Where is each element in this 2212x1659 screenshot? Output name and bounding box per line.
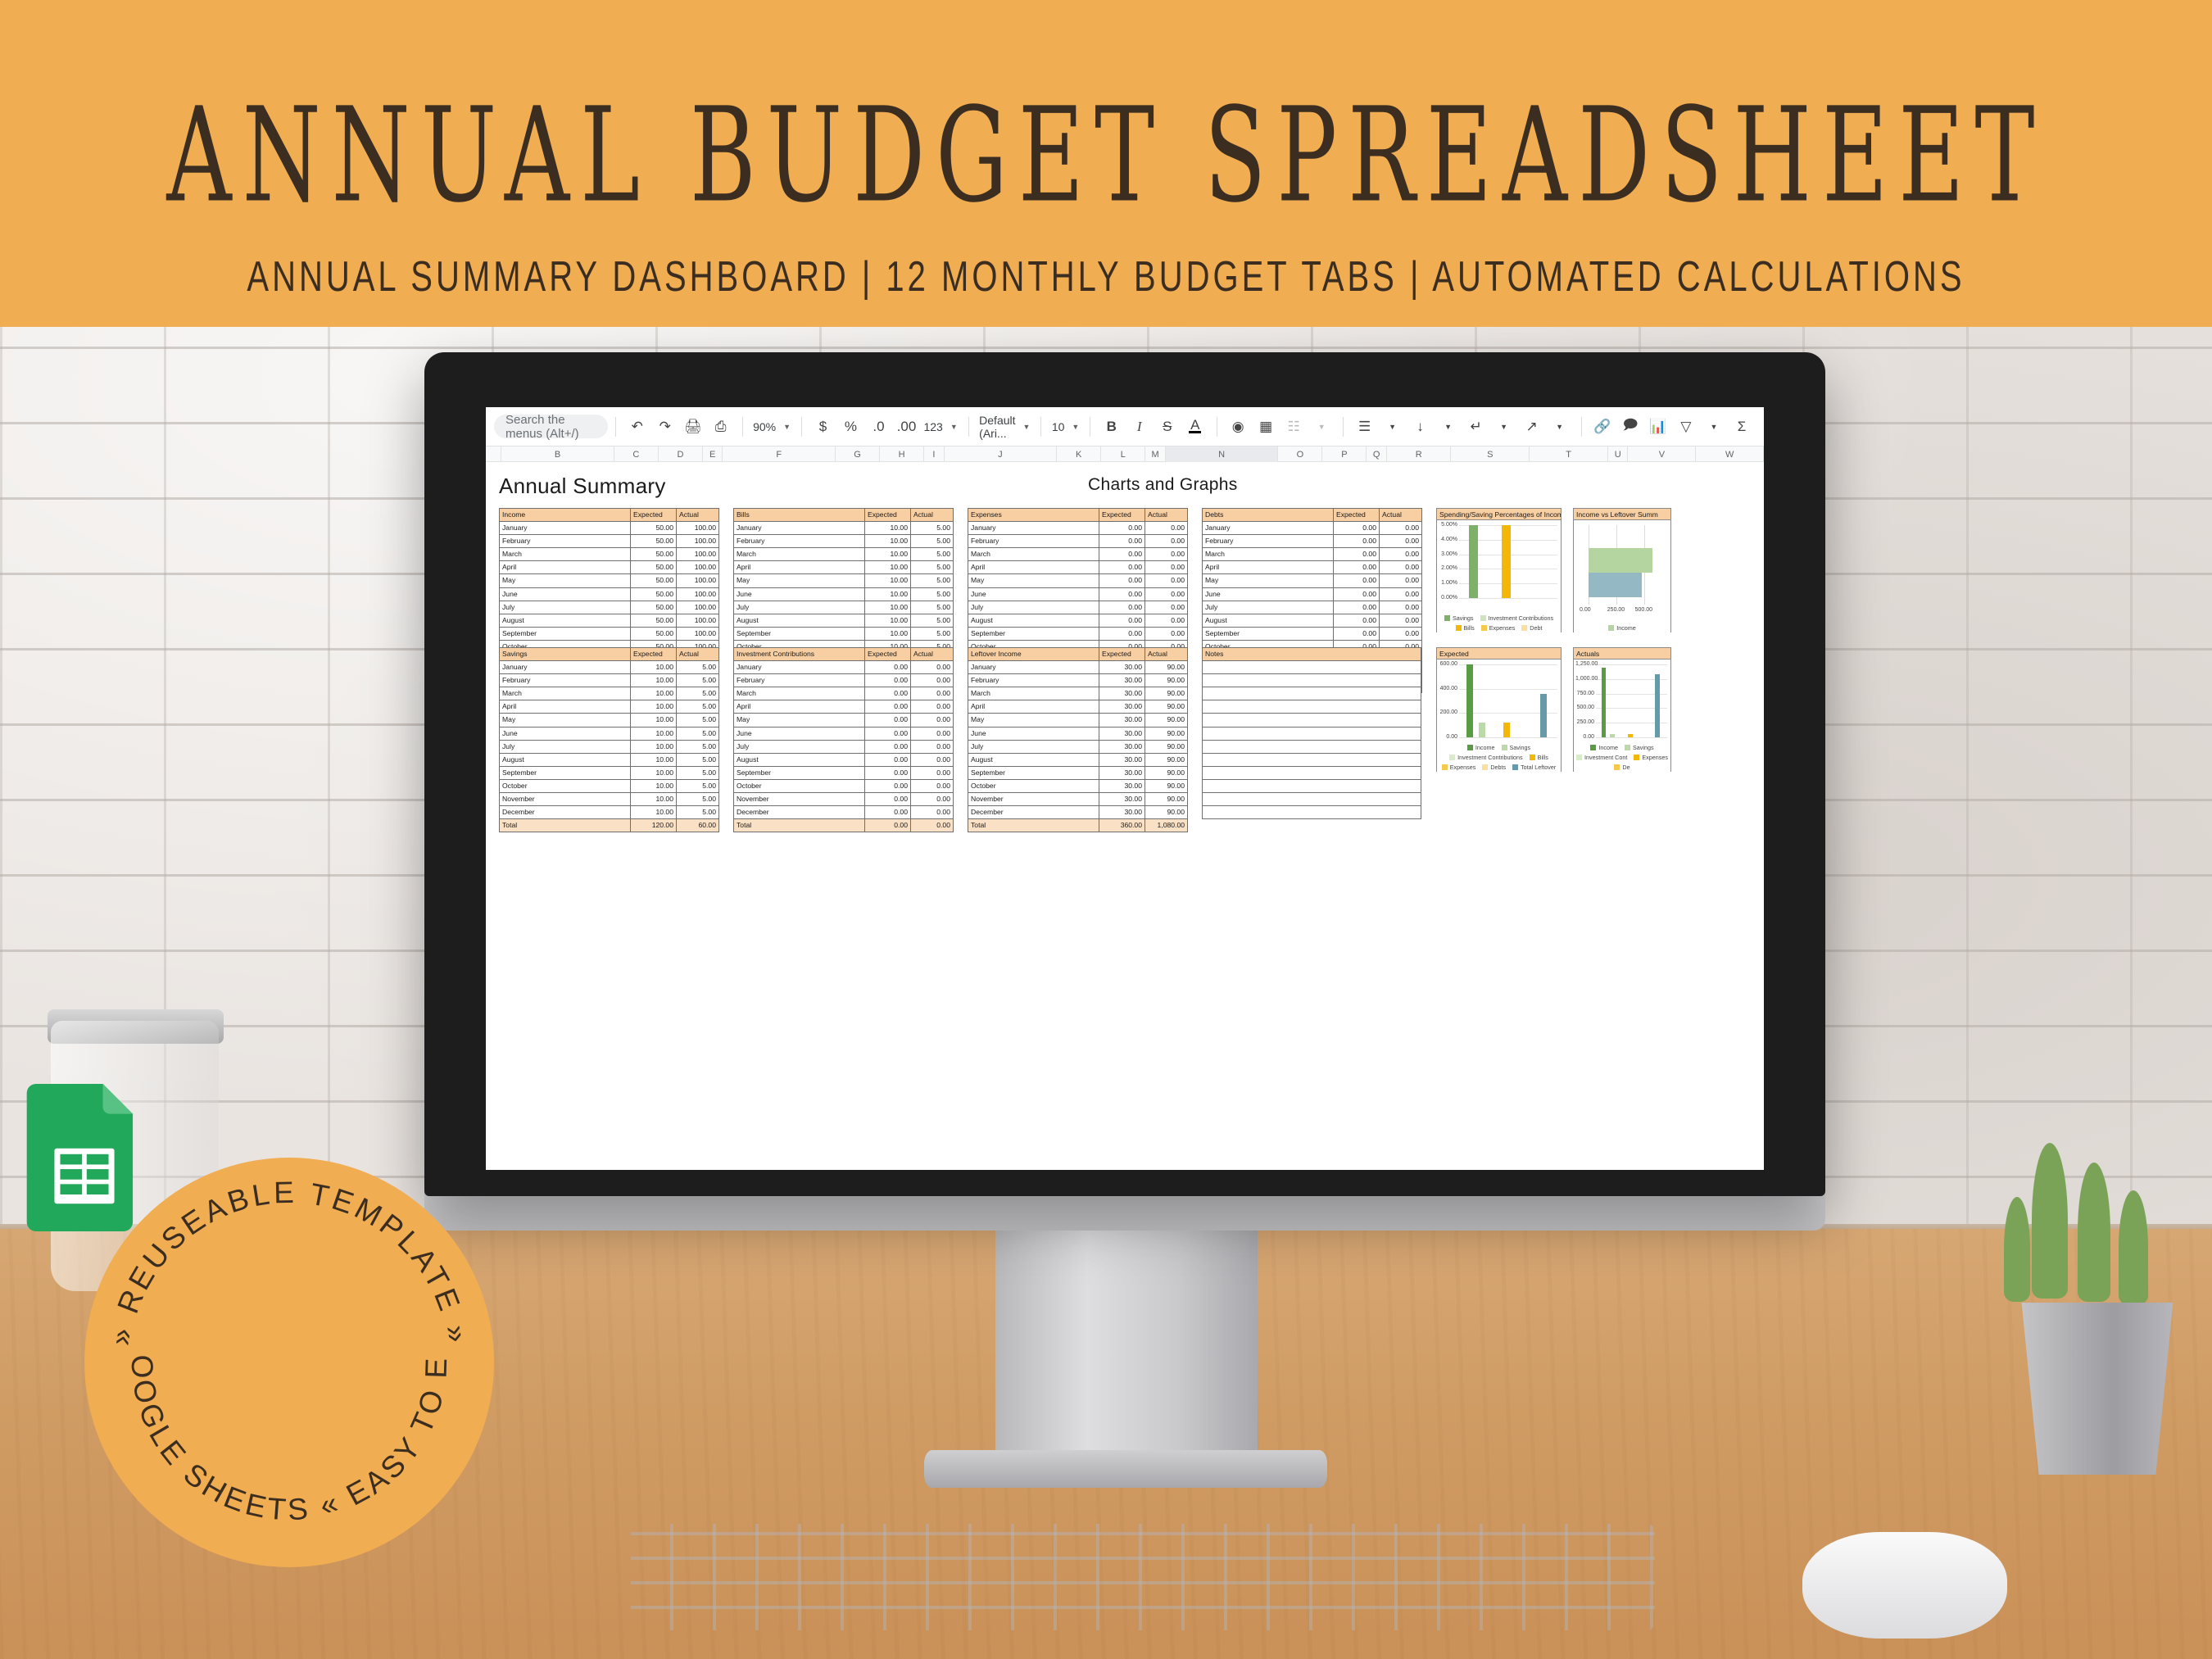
table-row[interactable]: June0.000.00 xyxy=(1203,587,1422,601)
column-header-E[interactable]: E xyxy=(703,446,723,462)
month-label-cell[interactable]: August xyxy=(734,753,865,766)
table-row[interactable]: April50.00100.00 xyxy=(500,561,719,574)
text-wrap-icon[interactable]: ↵ xyxy=(1465,415,1488,438)
spreadsheet-grid[interactable]: Annual Summary Charts and Graphs IncomeE… xyxy=(486,462,1764,1170)
expected-value-cell[interactable]: 10.00 xyxy=(631,727,677,740)
print-icon[interactable]: 🖨 xyxy=(682,415,705,438)
actual-value-cell[interactable]: 100.00 xyxy=(677,548,719,561)
notes-cell[interactable] xyxy=(1203,714,1421,727)
month-label-cell[interactable]: March xyxy=(734,687,865,700)
strikethrough-button[interactable]: S xyxy=(1156,415,1179,438)
table-row[interactable]: March50.00100.00 xyxy=(500,548,719,561)
italic-button[interactable]: I xyxy=(1128,415,1151,438)
table-row[interactable]: January10.005.00 xyxy=(500,661,719,674)
expected-value-cell[interactable]: 10.00 xyxy=(631,779,677,792)
expected-value-cell[interactable]: 10.00 xyxy=(865,627,911,640)
month-label-cell[interactable]: November xyxy=(734,793,865,806)
actual-value-cell[interactable]: 90.00 xyxy=(1145,727,1188,740)
month-label-cell[interactable]: September xyxy=(968,627,1099,640)
expected-value-cell[interactable]: 10.00 xyxy=(865,548,911,561)
actual-value-cell[interactable]: 5.00 xyxy=(911,601,954,614)
expected-value-cell[interactable]: 10.00 xyxy=(631,793,677,806)
month-label-cell[interactable]: January xyxy=(968,661,1099,674)
month-label-cell[interactable]: July xyxy=(1203,601,1334,614)
expected-value-cell[interactable]: 30.00 xyxy=(1099,687,1145,700)
notes-cell[interactable] xyxy=(1203,674,1421,687)
actual-value-cell[interactable]: 90.00 xyxy=(1145,661,1188,674)
month-label-cell[interactable]: July xyxy=(968,601,1099,614)
month-label-cell[interactable]: February xyxy=(734,535,865,548)
month-label-cell[interactable]: March xyxy=(968,548,1099,561)
table-row[interactable]: December0.000.00 xyxy=(734,806,954,819)
column-header-C[interactable]: C xyxy=(614,446,659,462)
notes-table[interactable]: Notes xyxy=(1202,647,1421,819)
actual-value-cell[interactable]: 0.00 xyxy=(911,779,954,792)
expected-value-cell[interactable]: 10.00 xyxy=(631,766,677,779)
expected-value-cell[interactable]: 0.00 xyxy=(865,779,911,792)
actual-value-cell[interactable]: 90.00 xyxy=(1145,793,1188,806)
column-header-T[interactable]: T xyxy=(1530,446,1608,462)
actual-value-cell[interactable]: 5.00 xyxy=(677,700,719,714)
table-row[interactable]: January10.005.00 xyxy=(734,522,954,535)
notes-row[interactable] xyxy=(1203,806,1421,819)
table-row[interactable]: July30.0090.00 xyxy=(968,740,1188,753)
notes-cell[interactable] xyxy=(1203,727,1421,740)
column-header-U[interactable]: U xyxy=(1608,446,1628,462)
expected-value-cell[interactable]: 0.00 xyxy=(1334,535,1380,548)
table-row[interactable]: August0.000.00 xyxy=(734,753,954,766)
month-label-cell[interactable]: January xyxy=(500,522,631,535)
column-header-Q[interactable]: Q xyxy=(1367,446,1386,462)
actual-value-cell[interactable]: 0.00 xyxy=(911,661,954,674)
column-header-J[interactable]: J xyxy=(945,446,1058,462)
table-row[interactable]: July0.000.00 xyxy=(968,601,1188,614)
table-row[interactable]: November30.0090.00 xyxy=(968,793,1188,806)
actual-value-cell[interactable]: 0.00 xyxy=(911,753,954,766)
expected-value-cell[interactable]: 0.00 xyxy=(865,714,911,727)
expected-value-cell[interactable]: 30.00 xyxy=(1099,727,1145,740)
expected-value-cell[interactable]: 10.00 xyxy=(631,687,677,700)
insert-chart-icon[interactable]: 📊 xyxy=(1647,415,1670,438)
expected-value-cell[interactable]: 0.00 xyxy=(1334,627,1380,640)
column-header-K[interactable]: K xyxy=(1057,446,1101,462)
table-row[interactable]: August30.0090.00 xyxy=(968,753,1188,766)
chevron-down-icon[interactable]: ▼ xyxy=(1548,415,1571,438)
expected-value-cell[interactable]: 50.00 xyxy=(631,535,677,548)
month-label-cell[interactable]: August xyxy=(500,614,631,627)
month-label-cell[interactable]: August xyxy=(968,614,1099,627)
actual-value-cell[interactable]: 100.00 xyxy=(677,561,719,574)
month-label-cell[interactable]: February xyxy=(734,674,865,687)
month-label-cell[interactable]: March xyxy=(1203,548,1334,561)
expected-value-cell[interactable]: 10.00 xyxy=(631,674,677,687)
budget-table-leftover-income[interactable]: Leftover IncomeExpectedActualJanuary30.0… xyxy=(968,647,1188,832)
undo-icon[interactable]: ↶ xyxy=(626,415,649,438)
actual-value-cell[interactable]: 0.00 xyxy=(1145,587,1188,601)
actual-value-cell[interactable]: 0.00 xyxy=(1380,522,1422,535)
month-label-cell[interactable]: June xyxy=(734,727,865,740)
month-label-cell[interactable]: July xyxy=(968,740,1099,753)
actual-value-cell[interactable]: 100.00 xyxy=(677,601,719,614)
month-label-cell[interactable]: April xyxy=(500,700,631,714)
decrease-decimal-button[interactable]: .0 xyxy=(867,415,890,438)
table-row[interactable]: June10.005.00 xyxy=(500,727,719,740)
month-label-cell[interactable]: September xyxy=(500,627,631,640)
notes-row[interactable] xyxy=(1203,766,1421,779)
expected-value-cell[interactable]: 10.00 xyxy=(631,700,677,714)
actual-value-cell[interactable]: 0.00 xyxy=(1145,548,1188,561)
table-row[interactable]: May0.000.00 xyxy=(968,574,1188,587)
table-row[interactable]: June10.005.00 xyxy=(734,587,954,601)
expected-value-cell[interactable]: 0.00 xyxy=(1099,627,1145,640)
actual-value-cell[interactable]: 0.00 xyxy=(911,674,954,687)
expected-value-cell[interactable]: 10.00 xyxy=(631,714,677,727)
table-row[interactable]: October10.005.00 xyxy=(500,779,719,792)
notes-row[interactable] xyxy=(1203,687,1421,700)
month-label-cell[interactable]: March xyxy=(734,548,865,561)
expected-value-cell[interactable]: 0.00 xyxy=(865,727,911,740)
insert-link-icon[interactable]: 🔗 xyxy=(1591,415,1614,438)
merge-dropdown-icon[interactable]: ▼ xyxy=(1310,415,1333,438)
actual-value-cell[interactable]: 0.00 xyxy=(1145,522,1188,535)
actual-value-cell[interactable]: 5.00 xyxy=(911,548,954,561)
table-row[interactable]: February0.000.00 xyxy=(734,674,954,687)
zoom-select[interactable]: 90% ▼ xyxy=(750,415,794,438)
column-header-O[interactable]: O xyxy=(1278,446,1322,462)
table-row[interactable]: March0.000.00 xyxy=(734,687,954,700)
expected-value-cell[interactable]: 0.00 xyxy=(865,687,911,700)
actual-value-cell[interactable]: 100.00 xyxy=(677,535,719,548)
month-label-cell[interactable]: July xyxy=(734,740,865,753)
table-row[interactable]: February30.0090.00 xyxy=(968,674,1188,687)
table-row[interactable]: May50.00100.00 xyxy=(500,574,719,587)
notes-cell[interactable] xyxy=(1203,766,1421,779)
actual-value-cell[interactable]: 5.00 xyxy=(911,587,954,601)
column-header-H[interactable]: H xyxy=(880,446,924,462)
month-label-cell[interactable]: January xyxy=(500,661,631,674)
expected-value-cell[interactable]: 50.00 xyxy=(631,601,677,614)
month-label-cell[interactable]: June xyxy=(500,587,631,601)
table-row[interactable]: March30.0090.00 xyxy=(968,687,1188,700)
month-label-cell[interactable]: July xyxy=(500,740,631,753)
month-label-cell[interactable]: April xyxy=(500,561,631,574)
table-row[interactable]: November0.000.00 xyxy=(734,793,954,806)
expected-value-cell[interactable]: 0.00 xyxy=(1099,535,1145,548)
expected-value-cell[interactable]: 30.00 xyxy=(1099,661,1145,674)
month-label-cell[interactable]: July xyxy=(734,601,865,614)
expected-value-cell[interactable]: 0.00 xyxy=(1334,548,1380,561)
actual-value-cell[interactable]: 5.00 xyxy=(911,627,954,640)
table-row[interactable]: May10.005.00 xyxy=(734,574,954,587)
actual-value-cell[interactable]: 100.00 xyxy=(677,574,719,587)
month-label-cell[interactable]: June xyxy=(500,727,631,740)
actual-value-cell[interactable]: 0.00 xyxy=(1145,627,1188,640)
functions-icon[interactable]: Σ xyxy=(1730,415,1753,438)
month-label-cell[interactable]: May xyxy=(968,714,1099,727)
month-label-cell[interactable]: January xyxy=(968,522,1099,535)
actual-value-cell[interactable]: 0.00 xyxy=(911,766,954,779)
notes-row[interactable] xyxy=(1203,674,1421,687)
column-header-S[interactable]: S xyxy=(1451,446,1530,462)
expected-value-cell[interactable]: 30.00 xyxy=(1099,793,1145,806)
expected-value-cell[interactable]: 0.00 xyxy=(1099,561,1145,574)
borders-icon[interactable]: ▦ xyxy=(1254,415,1277,438)
month-label-cell[interactable]: April xyxy=(968,561,1099,574)
actual-value-cell[interactable]: 0.00 xyxy=(1145,574,1188,587)
month-label-cell[interactable]: March xyxy=(500,548,631,561)
expected-value-cell[interactable]: 0.00 xyxy=(1334,561,1380,574)
expected-value-cell[interactable]: 30.00 xyxy=(1099,674,1145,687)
bold-button[interactable]: B xyxy=(1100,415,1123,438)
column-header-W[interactable]: W xyxy=(1696,446,1764,462)
budget-table-investment-contributions[interactable]: Investment ContributionsExpectedActualJa… xyxy=(733,647,954,832)
notes-cell[interactable] xyxy=(1203,661,1421,674)
table-row[interactable]: January0.000.00 xyxy=(734,661,954,674)
actual-value-cell[interactable]: 5.00 xyxy=(677,779,719,792)
actual-value-cell[interactable]: 5.00 xyxy=(677,753,719,766)
table-row[interactable]: March0.000.00 xyxy=(968,548,1188,561)
actual-value-cell[interactable]: 5.00 xyxy=(677,687,719,700)
month-label-cell[interactable]: June xyxy=(1203,587,1334,601)
notes-row[interactable] xyxy=(1203,714,1421,727)
actual-value-cell[interactable]: 0.00 xyxy=(1380,535,1422,548)
chart-panel-1[interactable]: Spending/Saving Percentages of Income0.0… xyxy=(1436,508,1562,632)
table-row[interactable]: November10.005.00 xyxy=(500,793,719,806)
notes-cell[interactable] xyxy=(1203,687,1421,700)
expected-value-cell[interactable]: 0.00 xyxy=(1334,614,1380,627)
insert-comment-icon[interactable]: 🗩 xyxy=(1619,415,1642,438)
actual-value-cell[interactable]: 0.00 xyxy=(1380,548,1422,561)
percent-format-button[interactable]: % xyxy=(839,415,862,438)
expected-value-cell[interactable]: 0.00 xyxy=(865,700,911,714)
table-row[interactable]: December10.005.00 xyxy=(500,806,719,819)
table-row[interactable]: April0.000.00 xyxy=(1203,561,1422,574)
actual-value-cell[interactable]: 0.00 xyxy=(1380,574,1422,587)
actual-value-cell[interactable]: 5.00 xyxy=(677,806,719,819)
expected-value-cell[interactable]: 0.00 xyxy=(865,753,911,766)
expected-value-cell[interactable]: 10.00 xyxy=(865,522,911,535)
notes-row[interactable] xyxy=(1203,700,1421,714)
table-row[interactable]: January50.00100.00 xyxy=(500,522,719,535)
column-header-P[interactable]: P xyxy=(1322,446,1367,462)
filter-icon[interactable]: ▽ xyxy=(1675,415,1698,438)
chevron-down-icon[interactable]: ▼ xyxy=(1437,415,1460,438)
table-row[interactable]: April10.005.00 xyxy=(734,561,954,574)
table-row[interactable]: September0.000.00 xyxy=(734,766,954,779)
column-header-M[interactable]: M xyxy=(1145,446,1165,462)
table-row[interactable]: March0.000.00 xyxy=(1203,548,1422,561)
table-row[interactable]: July10.005.00 xyxy=(734,601,954,614)
table-row[interactable]: October30.0090.00 xyxy=(968,779,1188,792)
column-header-I[interactable]: I xyxy=(924,446,944,462)
table-row[interactable]: May0.000.00 xyxy=(1203,574,1422,587)
month-label-cell[interactable]: February xyxy=(968,674,1099,687)
table-row[interactable]: April0.000.00 xyxy=(734,700,954,714)
table-row[interactable]: October0.000.00 xyxy=(734,779,954,792)
expected-value-cell[interactable]: 10.00 xyxy=(631,806,677,819)
expected-value-cell[interactable]: 10.00 xyxy=(865,587,911,601)
table-row[interactable]: June50.00100.00 xyxy=(500,587,719,601)
expected-value-cell[interactable]: 30.00 xyxy=(1099,806,1145,819)
table-row[interactable]: March10.005.00 xyxy=(734,548,954,561)
search-input[interactable]: Search the menus (Alt+/) xyxy=(494,415,608,438)
table-row[interactable]: July0.000.00 xyxy=(1203,601,1422,614)
actual-value-cell[interactable]: 0.00 xyxy=(1380,561,1422,574)
table-row[interactable]: May30.0090.00 xyxy=(968,714,1188,727)
expected-value-cell[interactable]: 30.00 xyxy=(1099,700,1145,714)
table-row[interactable]: August0.000.00 xyxy=(968,614,1188,627)
table-row[interactable]: January0.000.00 xyxy=(1203,522,1422,535)
column-header-R[interactable]: R xyxy=(1387,446,1451,462)
expected-value-cell[interactable]: 0.00 xyxy=(1334,587,1380,601)
month-label-cell[interactable]: January xyxy=(1203,522,1334,535)
chart-panel-2[interactable]: Income vs Leftover Summ0.00250.00500.00I… xyxy=(1573,508,1671,632)
expected-value-cell[interactable]: 10.00 xyxy=(865,561,911,574)
table-row[interactable]: July0.000.00 xyxy=(734,740,954,753)
actual-value-cell[interactable]: 5.00 xyxy=(677,727,719,740)
chart-panel-3[interactable]: Expected0.00200.00400.00600.00IncomeSavi… xyxy=(1436,647,1562,772)
month-label-cell[interactable]: September xyxy=(734,627,865,640)
table-row[interactable]: June0.000.00 xyxy=(734,727,954,740)
actual-value-cell[interactable]: 5.00 xyxy=(677,740,719,753)
actual-value-cell[interactable]: 5.00 xyxy=(911,522,954,535)
expected-value-cell[interactable]: 10.00 xyxy=(865,574,911,587)
text-color-button[interactable]: A xyxy=(1184,415,1207,438)
month-label-cell[interactable]: April xyxy=(734,561,865,574)
expected-value-cell[interactable]: 50.00 xyxy=(631,574,677,587)
expected-value-cell[interactable]: 30.00 xyxy=(1099,753,1145,766)
notes-row[interactable] xyxy=(1203,727,1421,740)
month-label-cell[interactable]: January xyxy=(734,661,865,674)
actual-value-cell[interactable]: 0.00 xyxy=(1380,587,1422,601)
actual-value-cell[interactable]: 100.00 xyxy=(677,522,719,535)
more-formats-select[interactable]: 123 ▼ xyxy=(920,415,960,438)
expected-value-cell[interactable]: 50.00 xyxy=(631,614,677,627)
actual-value-cell[interactable]: 90.00 xyxy=(1145,687,1188,700)
chevron-down-icon[interactable]: ▼ xyxy=(1381,415,1404,438)
table-row[interactable]: July10.005.00 xyxy=(500,740,719,753)
month-label-cell[interactable]: May xyxy=(1203,574,1334,587)
month-label-cell[interactable]: June xyxy=(968,727,1099,740)
month-label-cell[interactable]: May xyxy=(500,714,631,727)
table-row[interactable]: September10.005.00 xyxy=(500,766,719,779)
actual-value-cell[interactable]: 90.00 xyxy=(1145,806,1188,819)
month-label-cell[interactable]: September xyxy=(968,766,1099,779)
month-label-cell[interactable]: April xyxy=(734,700,865,714)
month-label-cell[interactable]: September xyxy=(1203,627,1334,640)
column-header-B[interactable]: B xyxy=(501,446,614,462)
actual-value-cell[interactable]: 90.00 xyxy=(1145,753,1188,766)
month-label-cell[interactable]: September xyxy=(500,766,631,779)
actual-value-cell[interactable]: 100.00 xyxy=(677,627,719,640)
month-label-cell[interactable]: August xyxy=(500,753,631,766)
month-label-cell[interactable]: November xyxy=(500,793,631,806)
actual-value-cell[interactable]: 0.00 xyxy=(911,687,954,700)
actual-value-cell[interactable]: 90.00 xyxy=(1145,700,1188,714)
month-label-cell[interactable]: August xyxy=(734,614,865,627)
column-header-G[interactable]: G xyxy=(836,446,880,462)
expected-value-cell[interactable]: 0.00 xyxy=(1099,614,1145,627)
expected-value-cell[interactable]: 50.00 xyxy=(631,548,677,561)
expected-value-cell[interactable]: 10.00 xyxy=(631,661,677,674)
expected-value-cell[interactable]: 50.00 xyxy=(631,522,677,535)
chevron-down-icon[interactable]: ▼ xyxy=(1702,415,1725,438)
actual-value-cell[interactable]: 0.00 xyxy=(911,793,954,806)
notes-row[interactable] xyxy=(1203,740,1421,753)
expected-value-cell[interactable]: 30.00 xyxy=(1099,766,1145,779)
month-label-cell[interactable]: October xyxy=(734,779,865,792)
expected-value-cell[interactable]: 10.00 xyxy=(865,614,911,627)
table-row[interactable]: May10.005.00 xyxy=(500,714,719,727)
month-label-cell[interactable]: March xyxy=(968,687,1099,700)
expected-value-cell[interactable]: 0.00 xyxy=(1099,574,1145,587)
month-label-cell[interactable]: April xyxy=(1203,561,1334,574)
actual-value-cell[interactable]: 0.00 xyxy=(1145,535,1188,548)
actual-value-cell[interactable]: 0.00 xyxy=(911,700,954,714)
month-label-cell[interactable]: September xyxy=(734,766,865,779)
expected-value-cell[interactable]: 0.00 xyxy=(865,674,911,687)
column-header-N[interactable]: N xyxy=(1166,446,1279,462)
month-label-cell[interactable]: March xyxy=(500,687,631,700)
redo-icon[interactable]: ↷ xyxy=(654,415,677,438)
horizontal-align-icon[interactable]: ☰ xyxy=(1353,415,1376,438)
month-label-cell[interactable]: December xyxy=(500,806,631,819)
actual-value-cell[interactable]: 90.00 xyxy=(1145,740,1188,753)
table-row[interactable]: February50.00100.00 xyxy=(500,535,719,548)
table-row[interactable]: May0.000.00 xyxy=(734,714,954,727)
month-label-cell[interactable]: June xyxy=(968,587,1099,601)
month-label-cell[interactable]: July xyxy=(500,601,631,614)
notes-cell[interactable] xyxy=(1203,806,1421,819)
paint-format-icon[interactable]: ⎙ xyxy=(709,415,732,438)
table-row[interactable]: April0.000.00 xyxy=(968,561,1188,574)
month-label-cell[interactable]: April xyxy=(968,700,1099,714)
table-row[interactable]: March10.005.00 xyxy=(500,687,719,700)
column-header-F[interactable]: F xyxy=(723,446,836,462)
expected-value-cell[interactable]: 30.00 xyxy=(1099,779,1145,792)
notes-cell[interactable] xyxy=(1203,740,1421,753)
expected-value-cell[interactable]: 30.00 xyxy=(1099,714,1145,727)
text-rotation-icon[interactable]: ↗ xyxy=(1521,415,1543,438)
table-row[interactable]: April10.005.00 xyxy=(500,700,719,714)
merge-cells-icon[interactable]: ☷ xyxy=(1282,415,1305,438)
actual-value-cell[interactable]: 5.00 xyxy=(677,766,719,779)
month-label-cell[interactable]: December xyxy=(968,806,1099,819)
notes-row[interactable] xyxy=(1203,661,1421,674)
chart-panel-4[interactable]: Actuals0.00250.00500.00750.001,000.001,2… xyxy=(1573,647,1671,772)
budget-table-savings[interactable]: SavingsExpectedActualJanuary10.005.00Feb… xyxy=(499,647,719,832)
table-row[interactable]: April30.0090.00 xyxy=(968,700,1188,714)
actual-value-cell[interactable]: 0.00 xyxy=(911,806,954,819)
expected-value-cell[interactable]: 0.00 xyxy=(1334,522,1380,535)
expected-value-cell[interactable]: 0.00 xyxy=(865,740,911,753)
table-row[interactable]: September0.000.00 xyxy=(1203,627,1422,640)
month-label-cell[interactable]: June xyxy=(734,587,865,601)
month-label-cell[interactable]: May xyxy=(500,574,631,587)
expected-value-cell[interactable]: 30.00 xyxy=(1099,740,1145,753)
expected-value-cell[interactable]: 0.00 xyxy=(865,766,911,779)
table-row[interactable]: September10.005.00 xyxy=(734,627,954,640)
actual-value-cell[interactable]: 90.00 xyxy=(1145,779,1188,792)
actual-value-cell[interactable]: 0.00 xyxy=(911,714,954,727)
table-row[interactable]: June30.0090.00 xyxy=(968,727,1188,740)
expected-value-cell[interactable]: 50.00 xyxy=(631,561,677,574)
expected-value-cell[interactable]: 0.00 xyxy=(1099,548,1145,561)
actual-value-cell[interactable]: 0.00 xyxy=(1380,601,1422,614)
table-row[interactable]: January0.000.00 xyxy=(968,522,1188,535)
actual-value-cell[interactable]: 5.00 xyxy=(911,574,954,587)
fill-color-icon[interactable]: ◉ xyxy=(1226,415,1249,438)
